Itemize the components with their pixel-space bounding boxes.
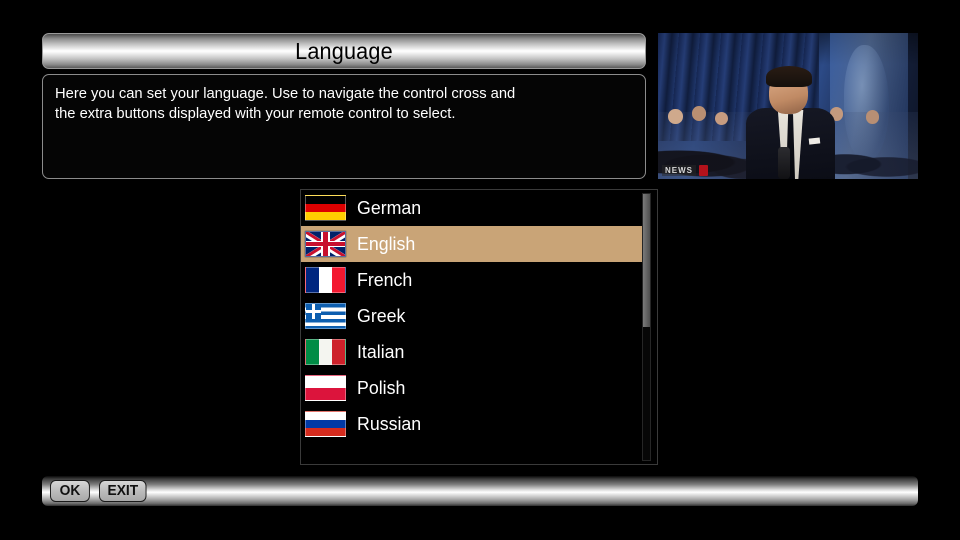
bottom-button-bar: OK EXIT [42, 476, 918, 506]
watermark-badge [699, 165, 708, 176]
list-item[interactable]: Russian [301, 406, 643, 442]
flag-it-icon [305, 339, 346, 365]
language-list-panel[interactable]: German English French Greek [300, 189, 658, 465]
scrollbar[interactable] [642, 193, 651, 461]
language-label: German [357, 199, 421, 218]
page-title: Language [295, 40, 393, 63]
crowd-head [668, 109, 682, 124]
language-label: French [357, 271, 412, 290]
window-title-bar: Language [42, 33, 646, 69]
list-item[interactable]: French [301, 262, 643, 298]
list-item[interactable]: Polish [301, 370, 643, 406]
flag-de-icon [305, 195, 346, 221]
flag-ru-icon [305, 411, 346, 437]
reporter-hair [766, 66, 812, 88]
flag-uk-icon [305, 231, 346, 257]
pocket-square [809, 137, 821, 145]
reporter-figure [746, 71, 834, 179]
microphone-icon [778, 147, 789, 179]
watermark-label: NEWS [662, 165, 696, 176]
language-label: Greek [357, 307, 405, 326]
list-item[interactable]: Greek [301, 298, 643, 334]
flag-pl-icon [305, 375, 346, 401]
list-item[interactable]: German [301, 190, 643, 226]
crowd-head [866, 110, 879, 123]
list-item[interactable]: Italian [301, 334, 643, 370]
language-label: Polish [357, 379, 405, 398]
live-tv-preview[interactable]: NEWS [658, 33, 918, 179]
ok-button[interactable]: OK [50, 480, 90, 502]
language-label: Russian [357, 415, 421, 434]
description-text: Here you can set your language. Use to n… [55, 84, 616, 124]
flag-fr-icon [305, 267, 346, 293]
channel-watermark: NEWS [662, 165, 708, 176]
video-scene: NEWS [658, 33, 918, 179]
list-item[interactable]: English [301, 226, 643, 262]
exit-button[interactable]: EXIT [99, 480, 147, 502]
tv-settings-screen: Language Here you can set your language.… [0, 0, 960, 540]
flag-gr-icon [305, 303, 346, 329]
language-list: German English French Greek [301, 190, 643, 464]
crowd-head [692, 106, 706, 121]
description-panel: Here you can set your language. Use to n… [42, 74, 646, 179]
language-label: Italian [357, 343, 404, 362]
scrollbar-thumb[interactable] [643, 194, 650, 327]
language-label: English [357, 235, 415, 254]
